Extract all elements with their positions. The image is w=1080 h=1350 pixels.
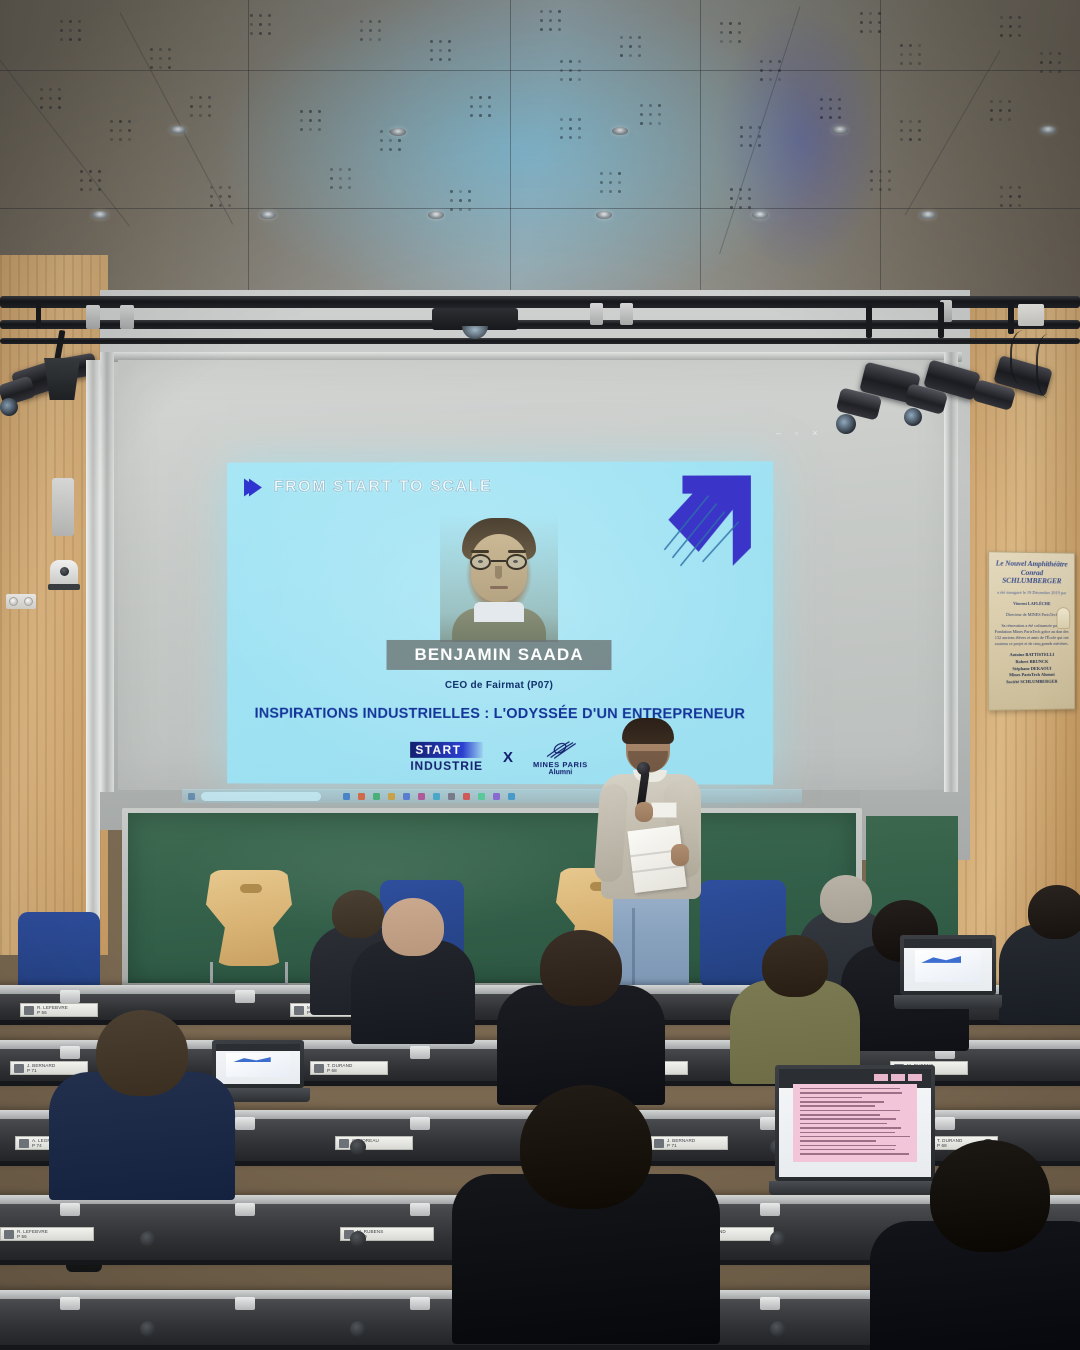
ceiling-perforation [740, 144, 743, 147]
ceiling-perforation [870, 188, 873, 191]
ceiling-perforation [869, 21, 872, 24]
taskbar-icons[interactable] [343, 793, 515, 800]
start-industrie-logo-line2: INDUSTRIE [410, 758, 483, 772]
portrait-mouth [490, 586, 508, 589]
ceiling-perforation [318, 110, 321, 113]
attendee-grey-hair-head [332, 890, 384, 938]
ceiling-perforation [569, 60, 572, 63]
laptop-keyboard-base[interactable] [769, 1181, 941, 1195]
ceiling-perforation [879, 188, 882, 191]
commemorative-plaque: Le Nouvel Amphithéâtre Conrad SCHLUMBERG… [988, 551, 1075, 711]
ceiling-perforation [739, 206, 742, 209]
ceiling-perforation [1009, 16, 1012, 19]
desk-microphone-base [410, 1046, 430, 1059]
ceiling-perforation [119, 138, 122, 141]
screen-side-rail [944, 352, 958, 792]
document-text-line [800, 1092, 902, 1094]
ceiling-perforation [208, 96, 211, 99]
desk-nameplate: T. DURANDP 68 [310, 1061, 388, 1075]
ceiling-perforation [918, 120, 921, 123]
ceiling-perforation [918, 138, 921, 141]
ceiling-perforation [560, 60, 563, 63]
ceiling-perforation [640, 113, 643, 116]
ceiling-perforation [398, 148, 401, 151]
ceiling-perforation [618, 172, 621, 175]
desk-cable-grommet [350, 1231, 366, 1247]
slide-kicker: FROM START TO SCALE [249, 478, 492, 496]
ceiling-perforation [309, 110, 312, 113]
ceiling-perforation [838, 116, 841, 119]
taskbar-app-icon[interactable] [403, 793, 410, 800]
ceiling-perforation [339, 177, 342, 180]
plaque-donor-list: Antoine BATTISTELLIRobert BRUNCKStéphane… [994, 652, 1069, 686]
presenter-jeans [613, 894, 689, 993]
ceiling-perforation [40, 106, 43, 109]
ceiling-perforation [479, 114, 482, 117]
ceiling-perforation [330, 186, 333, 189]
ceiling-perforation [560, 136, 563, 139]
speaker-portrait [440, 514, 558, 642]
taskbar-app-icon[interactable] [358, 793, 365, 800]
ceiling-perforation [629, 54, 632, 57]
institution-logo-icon [339, 1139, 349, 1148]
ceiling-perforation [900, 138, 903, 141]
attendee-front-right-head [930, 1140, 1050, 1252]
taskbar-app-icon[interactable] [418, 793, 425, 800]
ceiling-perforation [369, 38, 372, 41]
laptop-lid [212, 1040, 304, 1088]
ceiling-perforation [769, 78, 772, 81]
taskbar-app-icon[interactable] [463, 793, 470, 800]
ceiling-perforation [569, 136, 572, 139]
windows-start-icon[interactable] [188, 793, 195, 800]
ceiling-perforation [60, 29, 63, 32]
portrait-nose [495, 566, 502, 579]
ceiling-perforation [1000, 25, 1003, 28]
ceiling-perforation [618, 181, 621, 184]
taskbar-app-icon[interactable] [478, 793, 485, 800]
taskbar-app-icon[interactable] [343, 793, 350, 800]
ceiling-perforation [829, 116, 832, 119]
ceiling-seam [0, 70, 1080, 71]
lighting-truss-bar [0, 338, 1080, 344]
ceiling-perforation [49, 88, 52, 91]
ceiling-perforation [558, 10, 561, 13]
ceiling-perforation [470, 96, 473, 99]
ceiling-perforation [1058, 61, 1061, 64]
ceiling-perforation [339, 168, 342, 171]
ceiling-perforation [609, 181, 612, 184]
ceiling-perforation [609, 190, 612, 193]
ceiling-perforation [168, 57, 171, 60]
ceiling-perforation [479, 105, 482, 108]
taskbar-app-icon[interactable] [493, 793, 500, 800]
ceiling-perforation [638, 45, 641, 48]
document-text-line [800, 1097, 862, 1099]
ceiling-perforation [730, 188, 733, 191]
desk-cable-grommet [770, 1321, 786, 1337]
ceiling-perforation [729, 31, 732, 34]
ceiling-perforation [330, 177, 333, 180]
ceiling-perforation [1009, 204, 1012, 207]
ceiling-downlight [260, 211, 276, 219]
ceiling-perforation [250, 32, 253, 35]
ceiling-perforation [540, 10, 543, 13]
ceiling-downlight [832, 126, 848, 134]
taskbar-search-box[interactable] [201, 792, 321, 801]
plaque-seal-icon [1057, 607, 1071, 629]
taskbar-app-icon[interactable] [388, 793, 395, 800]
screen-side-rail [100, 352, 114, 792]
ceiling-perforation [1040, 61, 1043, 64]
ceiling-perforation [110, 120, 113, 123]
slide-speaker-role: CEO de Fairmat (P07) [227, 680, 773, 692]
laptop-lid [775, 1065, 935, 1181]
ceiling-perforation [739, 197, 742, 200]
document-page [793, 1084, 918, 1162]
ceiling-perforation [560, 127, 563, 130]
ceiling-perforation [150, 48, 153, 51]
ceiling-perforation [159, 57, 162, 60]
nameplate-text: T. DURANDP 68 [327, 1063, 352, 1074]
ceiling-perforation [879, 170, 882, 173]
ceiling-perforation [488, 105, 491, 108]
institution-logo-icon [294, 1006, 304, 1015]
ceiling-perforation [758, 126, 761, 129]
ceiling-perforation [990, 118, 993, 121]
chevron-right-icon [249, 479, 262, 497]
ceiling-perforation [80, 170, 83, 173]
truss-bracket [590, 303, 603, 325]
ceiling-perforation [909, 120, 912, 123]
app-tab[interactable] [874, 1074, 888, 1081]
ceiling-perforation [769, 60, 772, 63]
ceiling-perforation [398, 139, 401, 142]
window-minimize-icon[interactable]: – [776, 428, 781, 438]
projected-taskbar[interactable] [182, 789, 802, 803]
ceiling-perforation [168, 66, 171, 69]
ceiling-perforation [250, 23, 253, 26]
ceiling-perforation [760, 60, 763, 63]
ceiling-perforation [1000, 195, 1003, 198]
wooden-chair[interactable] [200, 870, 298, 990]
institution-logo-icon [4, 1230, 14, 1239]
desk-microphone-base [60, 1203, 80, 1216]
taskbar-app-icon[interactable] [433, 793, 440, 800]
ceiling-perforation [49, 97, 52, 100]
desk-microphone-base [235, 1117, 255, 1130]
ceiling-seam [510, 0, 511, 300]
attendee-grey-hair-right-head [820, 875, 872, 923]
ceiling-perforation [869, 12, 872, 15]
taskbar-app-icon[interactable] [508, 793, 515, 800]
ceiling-perforation [629, 45, 632, 48]
nameplate-text: R. LEFEBVREP 56 [17, 1229, 48, 1240]
ceiling-downlight [92, 211, 108, 219]
ceiling-perforation [468, 190, 471, 193]
ceiling-perforation [900, 44, 903, 47]
laptop-screen[interactable] [779, 1069, 931, 1177]
ceiling-perforation [339, 186, 342, 189]
mines-paris-logo-line1: MINES PARIS [533, 760, 588, 769]
ceiling-perforation [69, 38, 72, 41]
stage-spotlight-lens [836, 414, 856, 434]
ceiling-perforation [569, 78, 572, 81]
ceiling-perforation [560, 118, 563, 121]
ceiling-perforation [569, 118, 572, 121]
ceiling-perforation [638, 36, 641, 39]
document-text-line [800, 1153, 908, 1155]
ceiling-perforation [758, 135, 761, 138]
slide-kicker-text: FROM START TO SCALE [274, 478, 492, 496]
ceiling-perforation [219, 195, 222, 198]
mines-paris-hammer-icon [542, 738, 578, 760]
ceiling-perforation [778, 60, 781, 63]
ceiling-perforation [199, 105, 202, 108]
ceiling-perforation [1000, 204, 1003, 207]
ceiling-perforation [720, 22, 723, 25]
laptop-keyboard-base[interactable] [894, 995, 1002, 1009]
ceiling-perforation [470, 105, 473, 108]
ceiling-perforation [89, 188, 92, 191]
ceiling-perforation [210, 204, 213, 207]
ceiling-perforation [430, 40, 433, 43]
ceiling-perforation [1000, 34, 1003, 37]
ceiling-perforation [540, 19, 543, 22]
ceiling-perforation [860, 30, 863, 33]
power-outlet-icon [6, 594, 36, 609]
ceiling-perforation [450, 199, 453, 202]
ceiling-perforation [1058, 52, 1061, 55]
ceiling-perforation [378, 38, 381, 41]
ceiling-perforation [569, 127, 572, 130]
ceiling-perforation [468, 199, 471, 202]
slide-speaker-name: BENJAMIN SAADA [387, 640, 612, 670]
ceiling-perforation [439, 40, 442, 43]
ceiling-downlight [752, 211, 768, 219]
laptop-screen[interactable] [216, 1044, 300, 1084]
ceiling-perforation [729, 22, 732, 25]
ceiling-perforation [369, 20, 372, 23]
mines-paris-logo-line2: Alumni [549, 769, 573, 776]
truss-bracket [120, 305, 134, 329]
stage-spotlight-lens [904, 408, 922, 426]
lighting-truss-bar [0, 296, 1080, 308]
ceiling-perforation [318, 119, 321, 122]
ceiling-perforation [640, 104, 643, 107]
ceiling-perforation [620, 45, 623, 48]
ceiling-perforation [909, 138, 912, 141]
ceiling-perforation [820, 116, 823, 119]
ceiling-perforation [1009, 25, 1012, 28]
portrait-collar [474, 602, 524, 622]
power-outlet-icon [1018, 304, 1044, 326]
auditorium-photo: FROM START TO SCALE [0, 0, 1080, 1350]
ceiling-perforation [738, 40, 741, 43]
ceiling-perforation [219, 186, 222, 189]
ceiling-perforation [300, 128, 303, 131]
ceiling-perforation [470, 114, 473, 117]
taskbar-app-icon[interactable] [448, 793, 455, 800]
ceiling-perforation [49, 106, 52, 109]
ceiling-perforation [259, 23, 262, 26]
ceiling-perforation [210, 186, 213, 189]
ceiling-perforation [878, 12, 881, 15]
ceiling-perforation [909, 44, 912, 47]
ceiling-perforation [60, 38, 63, 41]
attendee-back-right-head [1028, 885, 1080, 939]
ceiling-perforation [760, 78, 763, 81]
ceiling-downlight [612, 127, 628, 135]
laptop-right-foreground[interactable] [775, 1065, 935, 1195]
institution-logo-icon [24, 1006, 34, 1015]
ceiling-perforation [430, 58, 433, 61]
ceiling-seam [880, 0, 881, 300]
ceiling-perforation [168, 48, 171, 51]
desk-nameplate: R. LEFEBVREP 56 [20, 1003, 98, 1017]
ceiling-perforation [40, 88, 43, 91]
window-maximize-icon[interactable]: ▫ [795, 428, 798, 438]
desk-microphone-base [235, 990, 255, 1003]
rig-cable [1036, 334, 1066, 398]
ceiling-perforation [870, 170, 873, 173]
chair-legs [210, 962, 288, 986]
laptop-mid-right[interactable] [900, 935, 996, 1009]
ceiling-perforation [900, 53, 903, 56]
start-industrie-logo: START INDUSTRIE [410, 741, 483, 772]
ceiling-perforation [128, 129, 131, 132]
laptop-lid [900, 935, 996, 995]
ceiling-perforation [999, 100, 1002, 103]
ceiling-perforation [609, 172, 612, 175]
ceiling-perforation [360, 20, 363, 23]
document-text-line [800, 1114, 880, 1116]
ceiling-perforation [999, 109, 1002, 112]
ceiling-perforation [210, 195, 213, 198]
ceiling-perforation [879, 179, 882, 182]
portrait-brow [508, 550, 526, 553]
ceiling-perforation [159, 48, 162, 51]
ceiling-perforation [860, 21, 863, 24]
ceiling-perforation [78, 29, 81, 32]
app-tab[interactable] [891, 1074, 905, 1081]
app-toolbar [904, 939, 992, 948]
ceiling-perforation [758, 144, 761, 147]
ceiling-perforation [578, 78, 581, 81]
ceiling-perforation [78, 38, 81, 41]
attendee-centre-mid-head [540, 930, 622, 1006]
laptop-screen[interactable] [904, 939, 992, 991]
ceiling-perforation [268, 23, 271, 26]
ceiling-perforation [219, 204, 222, 207]
ceiling-perforation [838, 98, 841, 101]
portrait-image [440, 514, 558, 642]
ceiling-perforation [69, 20, 72, 23]
desk-cable-grommet [140, 1231, 156, 1247]
ceiling-perforation [740, 126, 743, 129]
ceiling-perforation [58, 88, 61, 91]
presentation-slide-thumb [226, 1053, 290, 1077]
ceiling-perforation [199, 114, 202, 117]
document-text-line [800, 1132, 895, 1134]
stage-spotlight-lens [0, 398, 18, 416]
ceiling-perforation [730, 197, 733, 200]
document-text-line [800, 1118, 896, 1120]
institution-logo-icon [19, 1139, 29, 1148]
ceiling-perforation [1009, 195, 1012, 198]
nameplate-text: T. DURANDP 68 [937, 1138, 962, 1149]
projected-window-controls[interactable]: – ▫ × [776, 428, 817, 438]
ceiling-perforation [40, 97, 43, 100]
window-close-icon[interactable]: × [812, 428, 817, 438]
ceiling-perforation [869, 30, 872, 33]
ceiling-perforation [439, 58, 442, 61]
desk-microphone-base [410, 1297, 430, 1310]
ceiling-perforation [150, 66, 153, 69]
ceiling-perforation [378, 20, 381, 23]
ceiling-perforation [110, 129, 113, 132]
ceiling-perforation [909, 62, 912, 65]
ceiling-perforation [640, 122, 643, 125]
slide-thumb-graphic [232, 1057, 270, 1062]
desk-cable-grommet [770, 1231, 786, 1247]
ceiling-downlight [1040, 126, 1056, 134]
ceiling-perforation [738, 22, 741, 25]
ptz-camera-lens-icon [60, 567, 69, 576]
ceiling-perforation [268, 32, 271, 35]
presenter-hair [622, 718, 674, 744]
mines-paris-alumni-logo: MINES PARIS Alumni [533, 738, 588, 776]
ceiling-perforation [360, 29, 363, 32]
app-tab-group[interactable] [874, 1074, 922, 1081]
ceiling-perforation [1009, 34, 1012, 37]
app-tab[interactable] [908, 1074, 922, 1081]
desk-cable-grommet [350, 1139, 366, 1155]
ceiling-perforation [450, 190, 453, 193]
spot-yoke [866, 304, 872, 338]
ceiling-perforation [250, 14, 253, 17]
spot-yoke [938, 302, 944, 338]
ceiling-perforation [348, 177, 351, 180]
ceiling-perforation [128, 138, 131, 141]
ptz-camera-base [48, 584, 80, 590]
ceiling-perforation [600, 190, 603, 193]
ceiling-perforation [150, 57, 153, 60]
ceiling-perforation [578, 69, 581, 72]
ceiling-perforation [918, 44, 921, 47]
ceiling-perforation [900, 129, 903, 132]
ceiling-perforation [488, 96, 491, 99]
ceiling-perforation [459, 190, 462, 193]
ceiling-perforation [740, 135, 743, 138]
ceiling-perforation [888, 188, 891, 191]
lighting-truss-bar [0, 320, 1080, 329]
ceiling-perforation [888, 170, 891, 173]
taskbar-app-icon[interactable] [373, 793, 380, 800]
ceiling-perforation [778, 78, 781, 81]
ceiling-perforation [860, 12, 863, 15]
ceiling-perforation [448, 49, 451, 52]
ceiling-perforation [1040, 70, 1043, 73]
ceiling-perforation [760, 69, 763, 72]
ceiling-perforation [360, 38, 363, 41]
paper-fold-line [632, 865, 684, 873]
ceiling-perforation [878, 30, 881, 33]
ceiling-perforation [208, 114, 211, 117]
ceiling-perforation [448, 58, 451, 61]
ceiling-downlight [920, 211, 936, 219]
ceiling-perforation [348, 168, 351, 171]
